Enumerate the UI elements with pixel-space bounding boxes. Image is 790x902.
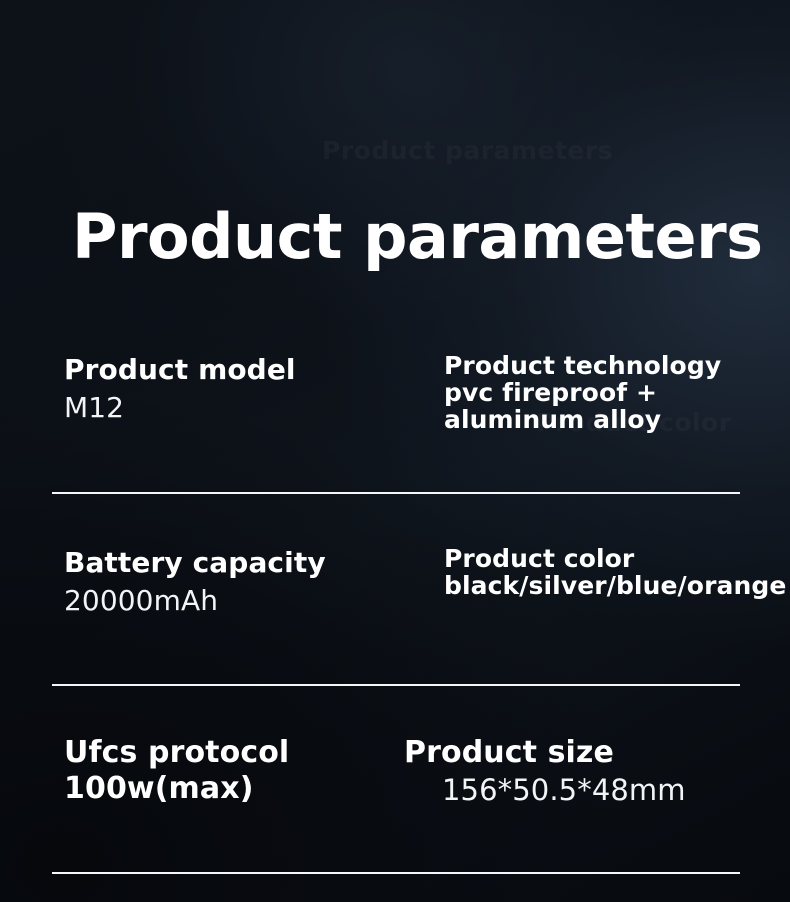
- spec-cell-ufcs-protocol: Ufcs protocol 100w(max): [64, 735, 424, 807]
- row-divider: [52, 492, 740, 494]
- spec-label: Ufcs protocol: [64, 735, 424, 771]
- spec-label: Product size: [404, 735, 784, 771]
- spec-label: Product model: [64, 352, 424, 388]
- row-divider: [52, 684, 740, 686]
- page-title: Product parameters: [72, 200, 763, 274]
- spec-cell-product-size: Product size 156*50.5*48mm: [404, 735, 784, 809]
- spec-cell-product-color: Product color black/silver/blue/orange: [444, 545, 774, 599]
- spec-cell-battery-capacity: Battery capacity 20000mAh: [64, 545, 424, 621]
- watermark-title: Product parameters: [322, 136, 613, 165]
- spec-value: M12: [64, 388, 424, 428]
- spec-label: Battery capacity: [64, 545, 424, 581]
- row-divider: [52, 872, 740, 874]
- spec-value: 156*50.5*48mm: [404, 771, 784, 809]
- spec-value: 100w(max): [64, 771, 424, 807]
- spec-value: 20000mAh: [64, 581, 424, 621]
- spec-cell-product-technology: Product technology pvc fireproof + alumi…: [444, 352, 774, 433]
- spec-label: Product technology pvc fireproof + alumi…: [444, 352, 774, 433]
- spec-value: black/silver/blue/orange: [444, 572, 774, 599]
- spec-label: Product color: [444, 545, 774, 572]
- product-parameters-panel: Product parameters Product color Product…: [0, 0, 790, 902]
- spec-cell-product-model: Product model M12: [64, 352, 424, 428]
